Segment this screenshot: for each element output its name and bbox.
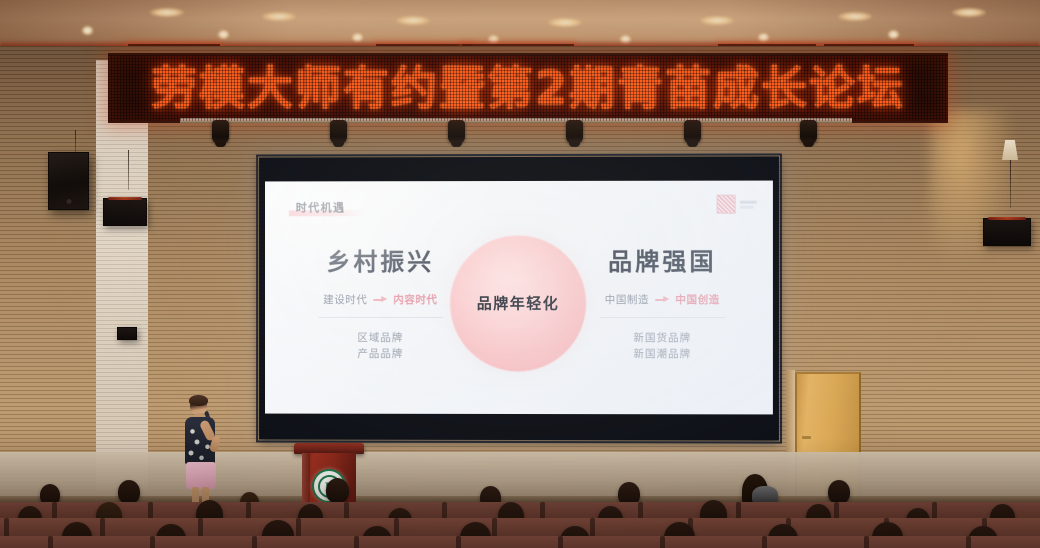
slide-section-label: 时代机遇 <box>293 199 349 215</box>
grid-logo-icon <box>717 195 736 214</box>
seat-divider <box>48 536 53 548</box>
ceiling-spotlight <box>82 26 93 35</box>
logo-wordmark-line <box>740 205 754 208</box>
transform-to: 中国创造 <box>675 292 720 307</box>
stage-light-fixture <box>800 120 817 144</box>
audience-head <box>828 480 850 504</box>
logo-wordmark <box>740 200 757 208</box>
audience-head <box>326 478 349 503</box>
slide-logo <box>717 195 757 214</box>
stage-light-fixture <box>448 120 465 144</box>
seat-divider <box>966 536 971 548</box>
wall-monitor-left <box>103 198 147 226</box>
seat-row[interactable] <box>0 536 1040 548</box>
arrow-right-icon <box>655 296 669 303</box>
seat-divider <box>456 536 461 548</box>
transform-from: 中国制造 <box>605 292 650 307</box>
stage-light-fixture <box>566 120 583 144</box>
wall-monitor-trim <box>988 217 1026 220</box>
wall-speaker-left <box>48 152 89 210</box>
ceiling-downlight <box>396 16 430 25</box>
seat-divider <box>150 536 155 548</box>
speaker-cable <box>128 150 129 190</box>
ceiling-downlight <box>952 8 986 17</box>
column-item: 区域品牌 <box>301 330 460 346</box>
center-circle-label: 品牌年轻化 <box>477 292 559 313</box>
speaker-cable <box>1010 160 1011 208</box>
ceiling-spotlight <box>888 30 899 39</box>
transform-to: 内容时代 <box>393 292 437 307</box>
lighting-truss <box>180 118 852 123</box>
column-item: 新国货品牌 <box>582 330 743 346</box>
led-banner: 劳模大师有约暨第2期青苗成长论坛 <box>108 53 948 123</box>
stage-light-fixture <box>212 120 229 144</box>
arrow-right-icon <box>373 296 387 303</box>
ceiling-downlight <box>548 18 582 27</box>
ceiling-downlight <box>838 12 872 21</box>
ceiling-downlight <box>262 12 296 21</box>
seat-divider <box>864 536 869 548</box>
center-circle-label-holder: 品牌年轻化 <box>450 235 586 371</box>
audience-head <box>118 480 140 504</box>
column-item: 产品品牌 <box>301 346 460 362</box>
audience-area <box>0 478 1040 548</box>
column-transformation: 中国制造 中国创造 <box>582 292 743 307</box>
slide-section-label-group: 时代机遇 <box>293 199 349 215</box>
column-item: 新国潮品牌 <box>582 346 743 362</box>
ceiling-downlight <box>700 16 734 25</box>
column-title: 乡村振兴 <box>301 251 460 275</box>
column-divider <box>318 317 442 318</box>
transform-from: 建设时代 <box>323 292 367 307</box>
seat-divider <box>354 536 359 548</box>
presenter-hair <box>189 395 208 406</box>
seat-divider <box>558 536 563 548</box>
wall-light-glow <box>930 110 1040 410</box>
conference-hall-photo: 劳模大师有约暨第2期青苗成长论坛 时代机遇 <box>0 0 1040 548</box>
presentation-slide: 时代机遇 乡村振兴 建设时代 内容时代 区域品牌 <box>265 181 773 415</box>
seat-divider <box>660 536 665 548</box>
stage-light-fixture <box>330 120 347 144</box>
column-transformation: 建设时代 内容时代 <box>301 292 460 307</box>
seat-divider <box>252 536 257 548</box>
projection-screen: 时代机遇 乡村振兴 建设时代 内容时代 区域品牌 <box>259 156 779 440</box>
door-handle-icon[interactable] <box>802 436 811 439</box>
slide-column-right: 品牌强国 中国制造 中国创造 新国货品牌 新国潮品牌 <box>582 251 743 363</box>
wall-monitor-right <box>983 218 1031 246</box>
speaker-cable <box>75 130 76 152</box>
slide-column-left: 乡村振兴 建设时代 内容时代 区域品牌 产品品牌 <box>301 251 460 362</box>
led-banner-text: 劳模大师有约暨第2期青苗成长论坛 <box>151 65 905 111</box>
column-title: 品牌强国 <box>582 251 743 275</box>
wall-panel-lit <box>96 60 148 490</box>
wall-device-left <box>117 327 137 340</box>
logo-wordmark-line <box>740 200 757 203</box>
seat-divider <box>762 536 767 548</box>
wall-monitor-trim <box>108 197 142 200</box>
stage-light-fixture <box>684 120 701 144</box>
ceiling-spotlight <box>218 30 229 39</box>
ceiling-downlight <box>150 8 184 17</box>
column-divider <box>600 317 726 318</box>
